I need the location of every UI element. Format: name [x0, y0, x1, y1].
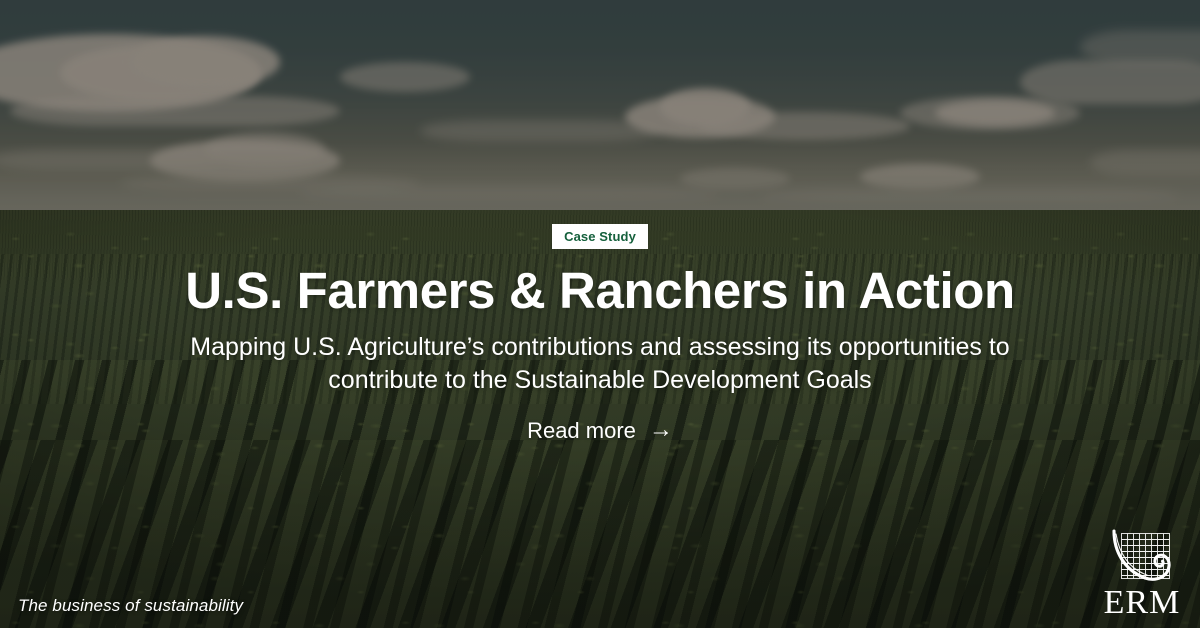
banner-headline: U.S. Farmers & Ranchers in Action: [185, 264, 1014, 318]
erm-logo[interactable]: ERM: [1100, 529, 1184, 620]
erm-fern-grid-logo-icon: [1111, 529, 1173, 585]
arrow-right-icon: →: [649, 418, 673, 442]
case-study-hero-banner: Case Study U.S. Farmers & Ranchers in Ac…: [0, 0, 1200, 628]
erm-wordmark: ERM: [1104, 586, 1181, 620]
case-study-badge: Case Study: [552, 224, 648, 249]
banner-subheadline: Mapping U.S. Agriculture’s contributions…: [145, 331, 1055, 397]
erm-tagline: The business of sustainability: [18, 596, 243, 616]
read-more-link[interactable]: Read more →: [527, 419, 673, 443]
read-more-label: Read more: [527, 420, 636, 442]
banner-content: Case Study U.S. Farmers & Ranchers in Ac…: [0, 0, 1200, 628]
